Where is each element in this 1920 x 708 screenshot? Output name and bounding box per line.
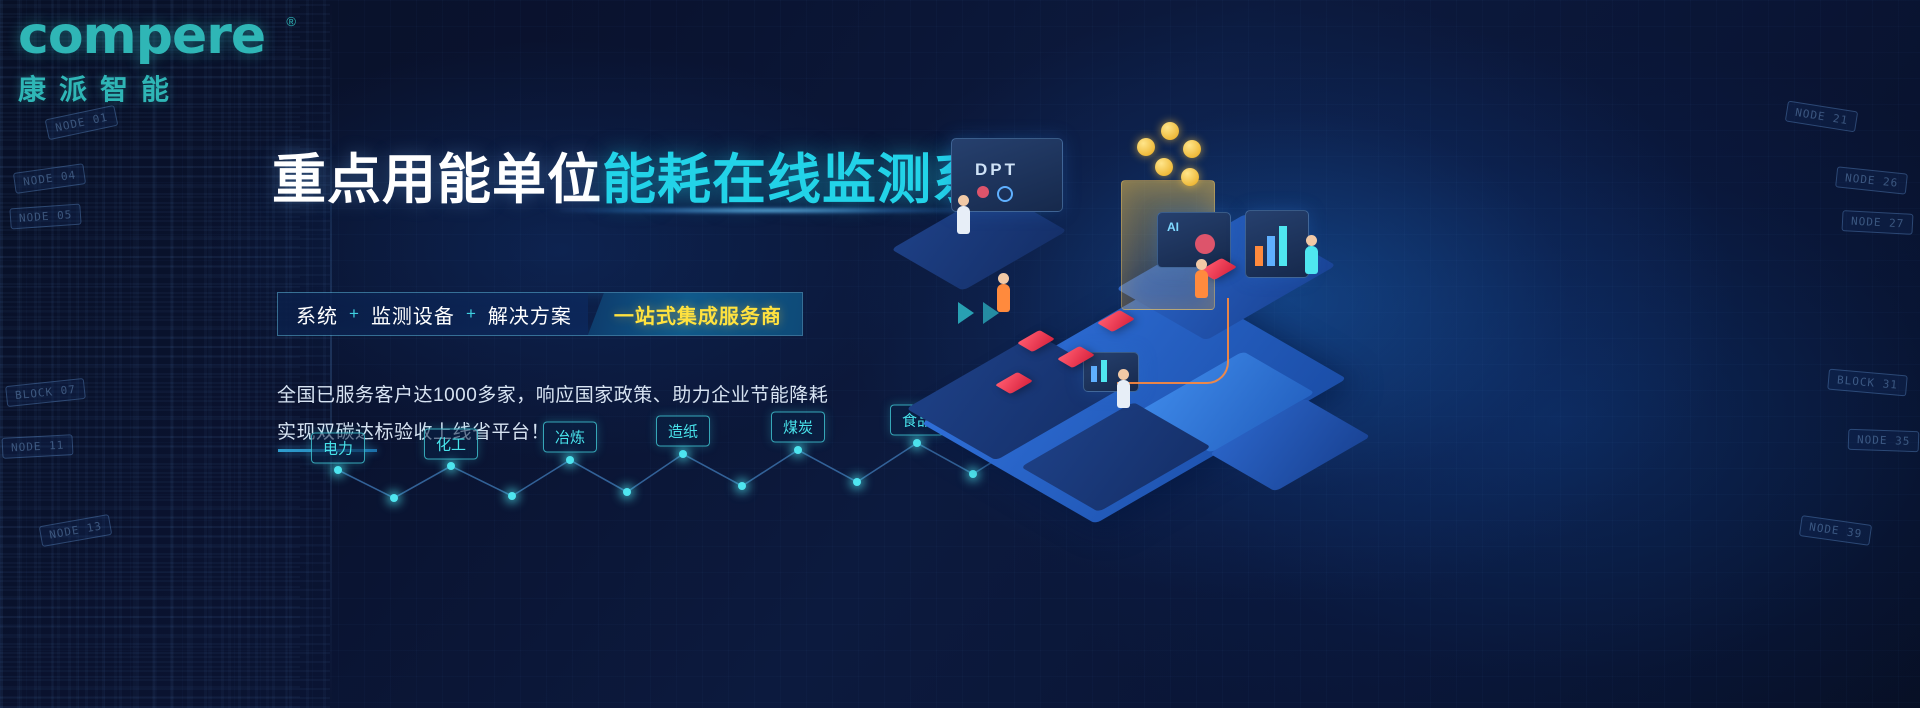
plus-icon-1: + [466,304,477,324]
coin-icon-3 [1183,140,1201,158]
laptop-chart-bar-2 [1101,360,1107,382]
decorative-node-chip: NODE 26 [1835,166,1908,194]
coin-icon-2 [1161,122,1179,140]
brand-logo[interactable]: compere ® 康派智能 [18,10,298,108]
pill-highlight-label: 一站式集成服务商 [588,293,802,335]
decorative-node-chip: NODE 05 [9,204,82,230]
decorative-node-chip: NODE 27 [1841,210,1913,235]
brand-wordmark: compere [18,10,298,62]
headline-white-part: 重点用能单位 [272,150,602,210]
industry-chip[interactable]: 冶炼 [543,422,597,453]
zigzag-node-dot [853,478,861,486]
industry-chip[interactable]: 化工 [424,429,478,460]
ai-label: AI [1167,220,1179,234]
industry-chip[interactable]: 煤炭 [771,412,825,443]
zigzag-node-dot [969,470,977,478]
pill-item-2: 解决方案 [488,300,572,329]
device-caption: DPT [975,160,1018,180]
screen-indicator-blue [997,186,1013,202]
zigzag-node-dot [794,446,802,454]
feature-pill[interactable]: 系统 + 监测设备 + 解决方案 一站式集成服务商 [277,292,803,336]
industry-chip[interactable]: 造纸 [656,416,710,447]
zigzag-node-dot [390,494,398,502]
coin-icon-1 [1137,138,1155,156]
pill-item-1: 监测设备 [371,300,455,329]
screen-indicator-red [977,186,989,198]
feature-pill-items: 系统 + 监测设备 + 解决方案 [278,293,588,335]
chart-bar-2 [1267,236,1275,266]
zigzag-node-dot [508,492,516,500]
pill-item-0: 系统 [296,300,338,329]
zigzag-node-dot [447,462,455,470]
brand-chinese-name: 康派智能 [18,68,298,108]
zigzag-node-dot [738,482,746,490]
decorative-node-chip: NODE 13 [39,514,113,547]
industry-chip[interactable]: 电力 [311,433,365,464]
laptop-chart-bar-1 [1091,366,1097,382]
isometric-illustration: DPT AI [905,60,1465,460]
registered-trademark-icon: ® [286,14,296,29]
decorative-node-chip: NODE 04 [13,163,87,194]
iso-connection-wire [1117,298,1229,384]
decorative-node-chip: BLOCK 31 [1827,369,1908,397]
zigzag-node-dot [566,456,574,464]
hero-banner: NODE 01NODE 04NODE 05BLOCK 07NODE 11NODE… [0,0,1920,708]
zigzag-node-dot [334,466,342,474]
coin-icon-5 [1181,168,1199,186]
decorative-node-chip: NODE 39 [1799,515,1873,546]
chart-bar-3 [1279,226,1287,266]
zigzag-node-dot [623,488,631,496]
plus-icon-0: + [349,304,360,324]
coin-icon-4 [1155,158,1173,176]
ai-indicator-icon [1195,234,1215,254]
iso-chart-board [1245,210,1309,278]
decorative-node-chip: NODE 01 [45,105,119,140]
decorative-node-chip: NODE 21 [1785,101,1859,133]
decorative-node-chip: NODE 11 [1,434,73,459]
decorative-node-chip: BLOCK 07 [5,378,86,407]
chart-bar-1 [1255,246,1263,266]
decorative-node-chip: NODE 35 [1848,429,1920,452]
zigzag-node-dot [679,450,687,458]
